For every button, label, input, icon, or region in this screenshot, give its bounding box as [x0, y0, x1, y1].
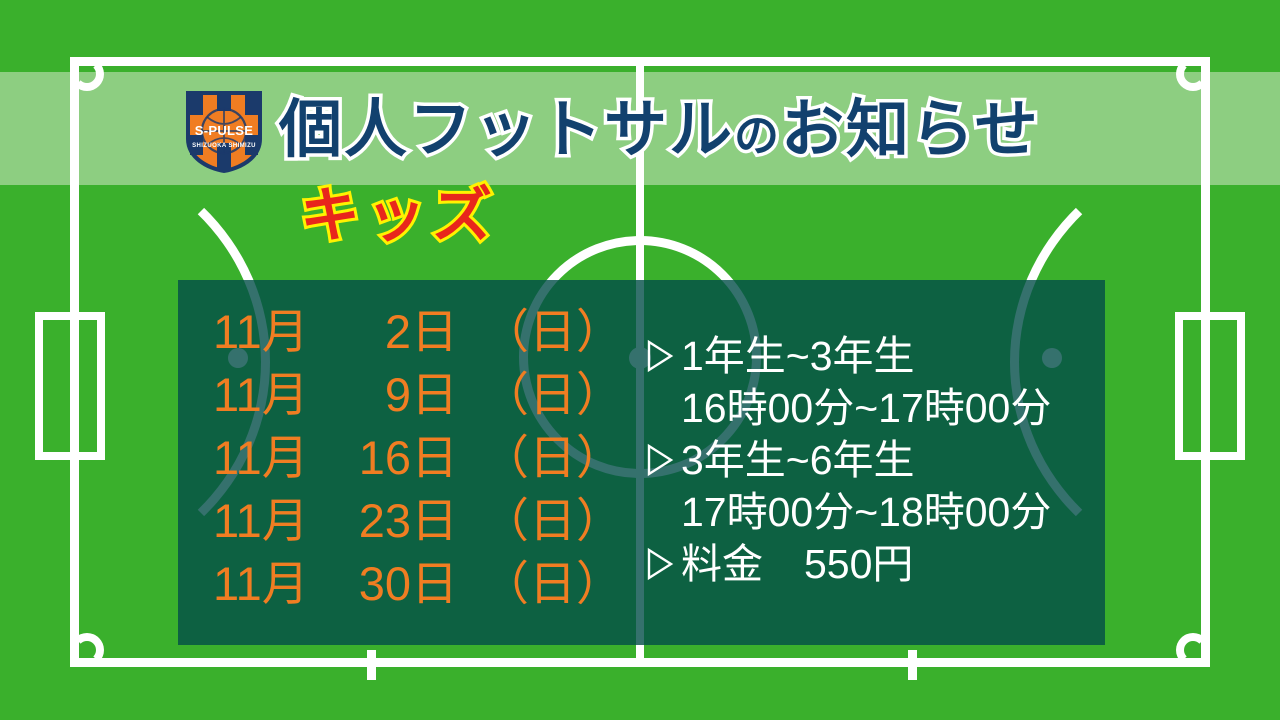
pitch-tick-mark-right [908, 650, 917, 680]
detail-subtext: 16時00分~17時00分 [645, 382, 1105, 434]
detail-item: 料金 550円 [645, 538, 1105, 590]
detail-heading: 1年生~3年生 [681, 330, 915, 382]
date-day-of-week: （日） [482, 489, 623, 552]
detail-heading: 3年生~6年生 [681, 434, 915, 486]
schedule-date-row: 11月23日（日） [213, 489, 623, 552]
date-day: 2日 [317, 300, 458, 363]
subtitle-kids: キッズ [300, 186, 498, 246]
triangle-right-icon [645, 442, 675, 478]
schedule-date-row: 11月9日（日） [213, 363, 623, 426]
detail-item: 1年生~3年生 [645, 330, 1105, 382]
triangle-right-icon [645, 338, 675, 374]
date-day-of-week: （日） [482, 552, 623, 615]
date-month: 11月 [213, 363, 317, 426]
schedule-date-row: 11月16日（日） [213, 426, 623, 489]
date-month: 11月 [213, 426, 317, 489]
svg-text:S-PULSE: S-PULSE [195, 123, 253, 138]
title-tail: お知らせ [781, 95, 1040, 165]
date-day: 16日 [317, 426, 458, 489]
detail-subtext: 17時00分~18時00分 [645, 486, 1105, 538]
title-particle: の [734, 110, 781, 161]
triangle-right-icon [645, 546, 675, 582]
date-day: 9日 [317, 363, 458, 426]
page-title: 個人フットサルのお知らせ [279, 99, 1040, 162]
title-main: 個人フットサル [279, 95, 734, 165]
pitch-tick-mark-left [367, 650, 376, 680]
poster-canvas: S-PULSE SHIZUOKA SHIMIZU 個人フットサルのお知らせ キッ… [0, 0, 1280, 720]
schedule-date-list: 11月2日（日）11月9日（日）11月16日（日）11月23日（日）11月30日… [213, 300, 623, 615]
date-day: 23日 [317, 489, 458, 552]
date-day: 30日 [317, 552, 458, 615]
date-month: 11月 [213, 489, 317, 552]
schedule-date-row: 11月30日（日） [213, 552, 623, 615]
date-day-of-week: （日） [482, 363, 623, 426]
date-month: 11月 [213, 300, 317, 363]
date-day-of-week: （日） [482, 426, 623, 489]
s-pulse-crest-icon: S-PULSE SHIZUOKA SHIMIZU [183, 87, 265, 175]
date-month: 11月 [213, 552, 317, 615]
detail-heading: 料金 550円 [681, 538, 913, 590]
poster-header: S-PULSE SHIZUOKA SHIMIZU 個人フットサルのお知らせ [0, 78, 1280, 183]
corner-arc-bottom-left [70, 633, 104, 667]
details-list: 1年生~3年生16時00分~17時00分3年生~6年生17時00分~18時00分… [645, 330, 1105, 590]
corner-arc-bottom-right [1176, 633, 1210, 667]
date-day-of-week: （日） [482, 300, 623, 363]
schedule-date-row: 11月2日（日） [213, 300, 623, 363]
detail-item: 3年生~6年生 [645, 434, 1105, 486]
svg-text:SHIZUOKA SHIMIZU: SHIZUOKA SHIMIZU [192, 143, 256, 149]
